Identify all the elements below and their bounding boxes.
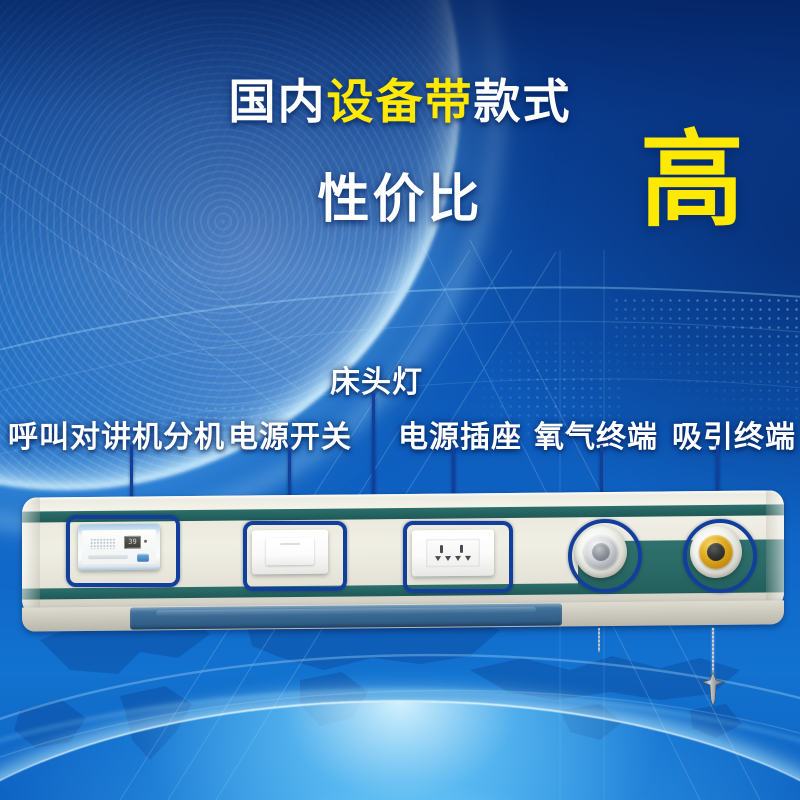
callout-box-power-socket xyxy=(403,521,513,593)
pull-cord-cross-handle[interactable] xyxy=(700,672,726,706)
bedside-lamp-strip[interactable] xyxy=(130,603,562,629)
headline-gao-highlight: 高 xyxy=(640,129,744,233)
callout-label-power-socket: 电源插座 xyxy=(398,412,522,456)
panel-endcap-right xyxy=(766,490,784,608)
headline-line1-highlight: 设备带 xyxy=(327,75,474,128)
panel-endcap-left xyxy=(22,497,40,615)
promo-image-stage: 国内设备带款式 性价比 高 呼叫对讲机分机 床头灯 电源开关 电源插座 氧气终端… xyxy=(0,0,800,800)
headline-line1-part3: 款式 xyxy=(474,75,572,128)
callout-label-bedside-lamp: 床头灯 xyxy=(330,357,423,401)
callout-circle-suction-terminal xyxy=(683,519,757,593)
callout-label-intercom: 呼叫对讲机分机 xyxy=(8,412,225,456)
oxygen-cord xyxy=(598,628,600,652)
headline-line1-part1: 国内 xyxy=(229,75,327,128)
callout-circle-oxygen-terminal xyxy=(568,519,642,593)
callout-box-intercom xyxy=(66,515,180,587)
callout-label-oxygen-terminal: 氧气终端 xyxy=(534,412,658,456)
headline-line-1: 国内设备带款式 xyxy=(0,78,800,125)
callout-box-power-switch xyxy=(243,521,347,591)
headline-line-2-wrap: 性价比 高 xyxy=(0,151,800,261)
callout-label-suction-terminal: 吸引终端 xyxy=(672,412,796,456)
headline-block: 国内设备带款式 性价比 高 xyxy=(0,78,800,261)
halftone-dots-right xyxy=(612,296,800,422)
